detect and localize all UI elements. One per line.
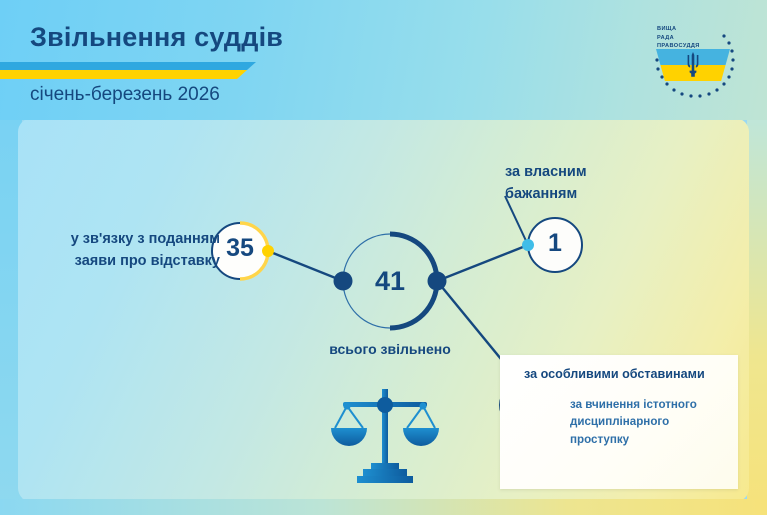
value-own-will: 1 [528,229,582,258]
vrp-logo: ВИЩА РАДА ПРАВОСУДДЯ [640,8,750,108]
flag-bar-yellow-stripe [0,70,256,79]
label-own-will-line-2: бажанням [505,184,685,206]
logo-text-line-1: ВИЩА [657,25,717,34]
special-circumstances-box: за особливими обставинами за вчинення іс… [500,355,738,489]
label-retirement-line-2: заяви про відставку [18,250,220,272]
special-box-title: за особливими обставинами [524,367,732,381]
label-retirement: у зв'язку з поданням заяви про відставку [18,228,220,273]
page-title: Звільнення суддів [30,22,283,53]
scales-of-justice-icon [327,385,443,485]
value-total: 41 [360,266,420,297]
background-right-band [747,118,767,515]
label-total-dismissed: всього звільнено [295,341,485,357]
special-box-body: за вчинення істотного дисциплінарного пр… [570,396,730,448]
logo-text-line-2: РАДА [657,34,717,43]
infographic-root: Звільнення суддів січень-березень 2026 [0,0,767,515]
ukraine-trident-icon [683,51,703,79]
label-retirement-line-1: у зв'язку з поданням [18,228,220,250]
value-retirement: 35 [212,234,268,263]
label-own-will-line-1: за власним [505,162,685,184]
background-bottom-band [0,499,767,515]
ukraine-flag-bar-icon [0,62,256,79]
label-own-will: за власним бажанням [505,162,685,206]
flag-bar-blue-stripe [0,62,256,70]
page-subtitle: січень-березень 2026 [30,84,220,106]
logo-flag-shape [656,49,730,81]
header: Звільнення суддів січень-березень 2026 [0,0,767,120]
logo-text: ВИЩА РАДА ПРАВОСУДДЯ [657,25,717,51]
